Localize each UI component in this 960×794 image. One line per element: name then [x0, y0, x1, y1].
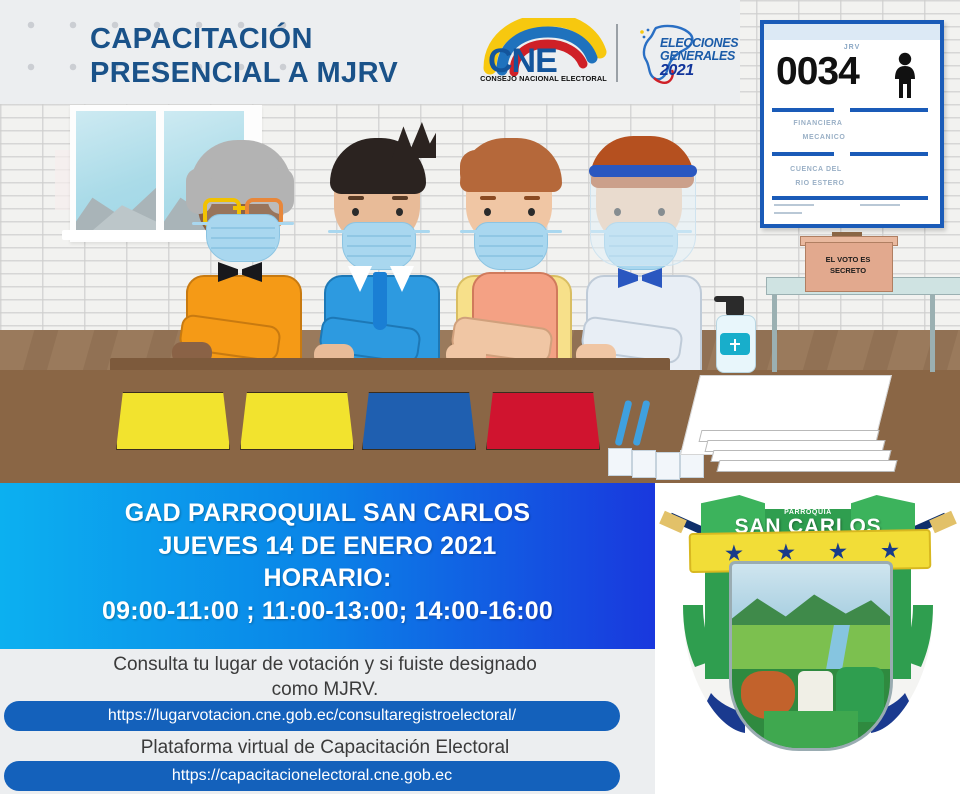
- elecciones-line-1: ELECCIONES: [660, 36, 738, 50]
- elecciones-generales-logo: ELECCIONES GENERALES 2021: [626, 20, 726, 90]
- coat-of-arms: PARROQUIA SAN CARLOS: [667, 487, 949, 787]
- san-carlos-emblem-panel: PARROQUIA SAN CARLOS: [655, 483, 960, 794]
- poster-line-b: [860, 204, 900, 206]
- title-line-1: CAPACITACIÓN: [90, 23, 313, 55]
- event-schedule-label: HORARIO:: [0, 562, 655, 595]
- table-leg-left: [772, 290, 777, 372]
- face-mask-1: [206, 214, 280, 262]
- bowtie-1: [218, 262, 262, 282]
- male-figure-icon: [890, 52, 920, 98]
- table-leg-right: [930, 290, 935, 372]
- emblem-star-4: [881, 541, 899, 559]
- ballot-yellow-1: [116, 392, 230, 450]
- elecciones-line-2: GENERALES: [660, 49, 735, 63]
- event-date: JUEVES 14 DE ENERO 2021: [0, 530, 655, 563]
- paper-layer-4: [717, 460, 898, 472]
- ballot-box-text-line2: SECRETO: [830, 266, 866, 275]
- face-mask-3: [474, 222, 548, 270]
- bowtie-2: [618, 268, 662, 288]
- emblem-star-2: [777, 543, 795, 561]
- poster-text-4: RIO ESTERO: [732, 180, 908, 187]
- poster-rule-5: [772, 196, 928, 200]
- sanitizer-cross-icon: [730, 338, 740, 350]
- ballot-blue: [362, 392, 476, 450]
- face-mask-2: [342, 222, 416, 270]
- sanitizer-pump: [726, 296, 744, 316]
- form-card-2: [632, 450, 656, 478]
- poster-rule-3: [772, 152, 834, 156]
- emblem-shield: [729, 561, 893, 751]
- wall-poster: JRV 0034 FINANCIERA MECANICO CUENCA DEL …: [760, 20, 944, 228]
- event-schedule-times: 09:00-11:00 ; 11:00-13:00; 14:00-16:00: [0, 595, 655, 628]
- consulta-note: Consulta tu lugar de votación y si fuist…: [0, 653, 650, 702]
- ballot-red: [486, 392, 600, 450]
- poster-text-1: FINANCIERA: [730, 120, 906, 127]
- ballot-yellow-2: [240, 392, 354, 450]
- event-details: GAD PARROQUIAL SAN CARLOS JUEVES 14 DE E…: [0, 497, 655, 627]
- poster-header: CAPACITACIÓN PRESENCIAL A MJRV CNE CONSE…: [0, 0, 740, 104]
- poster-line-c: [774, 212, 802, 214]
- shield-fields: [732, 625, 890, 669]
- logo-divider: [616, 24, 618, 82]
- poster-text-2: MECANICO: [736, 134, 912, 141]
- page-title: CAPACITACIÓN PRESENCIAL A MJRV: [90, 22, 490, 90]
- capacitacion-url-button[interactable]: https://capacitacionelectoral.cne.gob.ec: [4, 761, 620, 791]
- emblem-star-3: [829, 542, 847, 560]
- event-location: GAD PARROQUIAL SAN CARLOS: [0, 497, 655, 530]
- poster-root: JRV 0034 FINANCIERA MECANICO CUENCA DEL …: [0, 0, 960, 794]
- poster-rule-4: [850, 152, 928, 156]
- poster-rule-2: [850, 108, 928, 112]
- poster-line-a: [774, 204, 814, 206]
- consulta-note-line1: Consulta tu lugar de votación y si fuist…: [113, 654, 537, 675]
- form-card-1: [608, 448, 632, 476]
- face-shield-icon: [590, 168, 696, 266]
- cne-logo-block: CNE CONSEJO NACIONAL ELECTORAL ELECCIONE…: [476, 18, 726, 90]
- emblem-star-1: [725, 544, 743, 562]
- cne-full-name: CONSEJO NACIONAL ELECTORAL: [476, 74, 611, 83]
- poster-number: 0034: [776, 50, 859, 94]
- lugar-votacion-url-button[interactable]: https://lugarvotacion.cne.gob.ec/consult…: [4, 701, 620, 731]
- necktie: [373, 272, 387, 330]
- consulta-note-line2: como MJRV.: [272, 679, 379, 700]
- ballot-box-text-line1: EL VOTO ES: [826, 255, 871, 264]
- window-pane-left: [76, 111, 156, 236]
- shield-sugarcane: [764, 711, 859, 748]
- ballot-box-text: EL VOTO ES SECRETO: [805, 255, 891, 277]
- elecciones-year: 2021: [660, 62, 694, 80]
- plataforma-note: Plataforma virtual de Capacitación Elect…: [0, 737, 650, 759]
- poster-rule-1: [772, 108, 834, 112]
- poster-text-3: CUENCA DEL: [728, 166, 904, 173]
- poster-header-strip: [764, 24, 940, 40]
- form-card-3: [656, 452, 680, 480]
- title-line-2: PRESENCIAL A MJRV: [90, 56, 490, 90]
